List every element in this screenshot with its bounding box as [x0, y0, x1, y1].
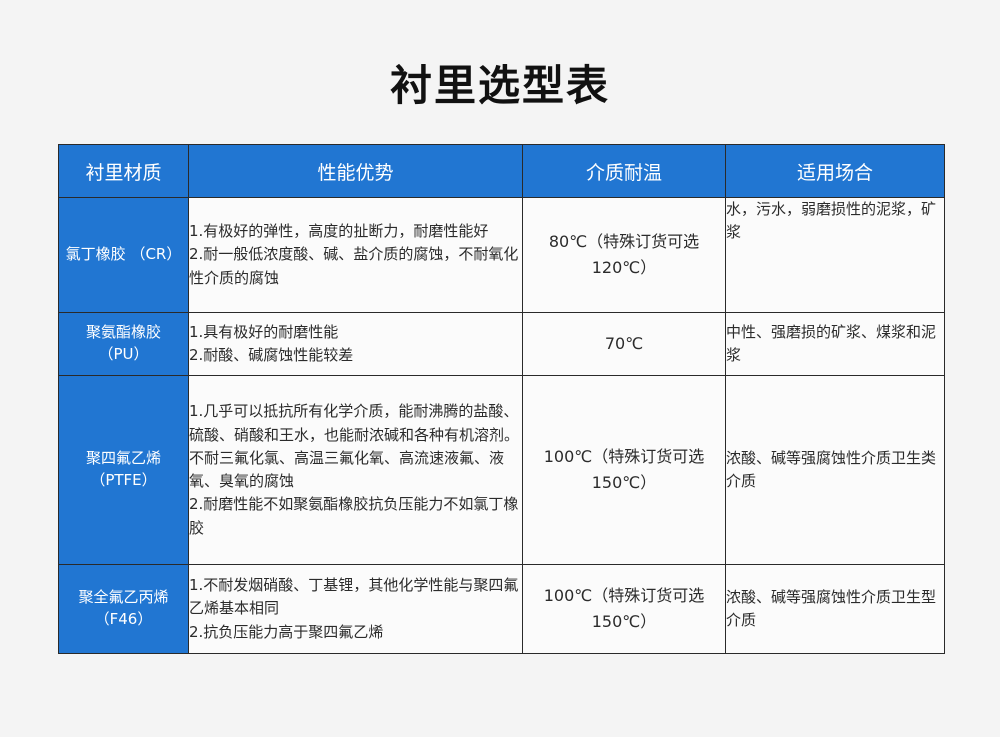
table-header: 衬里材质 性能优势 介质耐温 适用场合	[59, 145, 945, 198]
performance-cell: 1.几乎可以抵抗所有化学介质，能耐沸腾的盐酸、硫酸、硝酸和王水，也能耐浓碱和各种…	[189, 376, 523, 565]
temperature-cell: 100℃（特殊订货可选150℃）	[523, 565, 726, 654]
table-header-row: 衬里材质 性能优势 介质耐温 适用场合	[59, 145, 945, 198]
application-cell: 水，污水，弱磨损性的泥浆，矿浆	[726, 198, 945, 313]
performance-text: 1.有极好的弹性，高度的扯断力，耐磨性能好 2.耐一般低浓度酸、碱、盐介质的腐蚀…	[189, 220, 522, 290]
performance-cell: 1.具有极好的耐磨性能 2.耐酸、碱腐蚀性能较差	[189, 313, 523, 376]
material-code: （CR）	[130, 245, 181, 263]
performance-text: 1.几乎可以抵抗所有化学介质，能耐沸腾的盐酸、硫酸、硝酸和王水，也能耐浓碱和各种…	[189, 400, 522, 540]
column-header-application: 适用场合	[726, 145, 945, 198]
table-row: 聚氨酯橡胶 （PU） 1.具有极好的耐磨性能 2.耐酸、碱腐蚀性能较差 70℃ …	[59, 313, 945, 376]
performance-text: 1.具有极好的耐磨性能 2.耐酸、碱腐蚀性能较差	[189, 321, 522, 368]
table-row: 聚全氟乙丙烯 （F46） 1.不耐发烟硝酸、丁基锂，其他化学性能与聚四氟乙烯基本…	[59, 565, 945, 654]
material-code: （PU）	[98, 345, 148, 363]
material-code: （F46）	[95, 610, 153, 628]
application-text: 浓酸、碱等强腐蚀性介质卫生类介质	[726, 449, 936, 490]
lining-selection-table: 衬里材质 性能优势 介质耐温 适用场合 氯丁橡胶 （CR） 1.有极好的弹性，高…	[58, 144, 945, 654]
page-root: 衬里选型表 衬里材质 性能优势 介质耐温 适用场合 氯丁橡胶 （CR）	[0, 0, 1000, 737]
page-title: 衬里选型表	[0, 52, 1000, 113]
temperature-cell: 100℃（特殊订货可选150℃）	[523, 376, 726, 565]
column-header-material: 衬里材质	[59, 145, 189, 198]
material-cell: 氯丁橡胶 （CR）	[59, 198, 189, 313]
material-name: 聚全氟乙丙烯	[78, 588, 168, 606]
material-cell: 聚氨酯橡胶 （PU）	[59, 313, 189, 376]
application-cell: 中性、强磨损的矿浆、煤浆和泥浆	[726, 313, 945, 376]
column-header-performance: 性能优势	[189, 145, 523, 198]
table-row: 氯丁橡胶 （CR） 1.有极好的弹性，高度的扯断力，耐磨性能好 2.耐一般低浓度…	[59, 198, 945, 313]
material-name: 氯丁橡胶	[66, 245, 126, 263]
table-body: 氯丁橡胶 （CR） 1.有极好的弹性，高度的扯断力，耐磨性能好 2.耐一般低浓度…	[59, 198, 945, 654]
application-text: 浓酸、碱等强腐蚀性介质卫生型介质	[726, 588, 936, 629]
material-code: （PTFE）	[90, 471, 156, 489]
material-cell: 聚四氟乙烯 （PTFE）	[59, 376, 189, 565]
application-text: 中性、强磨损的矿浆、煤浆和泥浆	[726, 323, 936, 364]
application-cell: 浓酸、碱等强腐蚀性介质卫生类介质	[726, 376, 945, 565]
application-text: 水，污水，弱磨损性的泥浆，矿浆	[726, 200, 936, 241]
material-name: 聚氨酯橡胶	[86, 323, 161, 341]
column-header-temperature: 介质耐温	[523, 145, 726, 198]
application-cell: 浓酸、碱等强腐蚀性介质卫生型介质	[726, 565, 945, 654]
temperature-text: 100℃（特殊订货可选150℃）	[544, 586, 705, 631]
temperature-text: 80℃（特殊订货可选120℃）	[549, 232, 699, 277]
performance-cell: 1.有极好的弹性，高度的扯断力，耐磨性能好 2.耐一般低浓度酸、碱、盐介质的腐蚀…	[189, 198, 523, 313]
temperature-text: 70℃	[605, 334, 643, 353]
temperature-cell: 80℃（特殊订货可选120℃）	[523, 198, 726, 313]
lining-selection-table-container: 衬里材质 性能优势 介质耐温 适用场合 氯丁橡胶 （CR） 1.有极好的弹性，高…	[58, 144, 944, 654]
table-row: 聚四氟乙烯 （PTFE） 1.几乎可以抵抗所有化学介质，能耐沸腾的盐酸、硫酸、硝…	[59, 376, 945, 565]
performance-cell: 1.不耐发烟硝酸、丁基锂，其他化学性能与聚四氟乙烯基本相同 2.抗负压能力高于聚…	[189, 565, 523, 654]
performance-text: 1.不耐发烟硝酸、丁基锂，其他化学性能与聚四氟乙烯基本相同 2.抗负压能力高于聚…	[189, 574, 522, 644]
material-name: 聚四氟乙烯	[86, 449, 161, 467]
material-cell: 聚全氟乙丙烯 （F46）	[59, 565, 189, 654]
temperature-cell: 70℃	[523, 313, 726, 376]
temperature-text: 100℃（特殊订货可选150℃）	[544, 447, 705, 492]
